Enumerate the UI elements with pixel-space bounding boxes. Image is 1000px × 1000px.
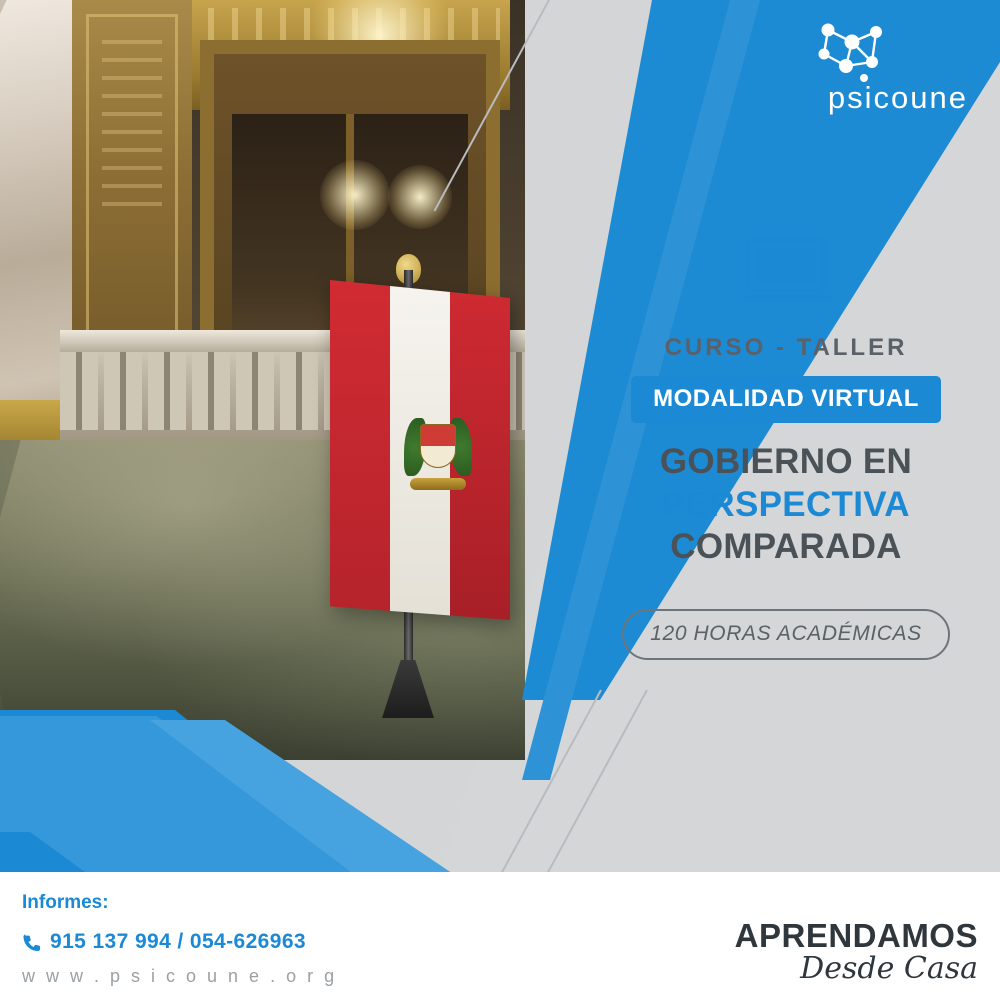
phone-icon bbox=[22, 933, 41, 952]
slogan-line-1: APRENDAMOS bbox=[735, 919, 978, 952]
academic-hours-pill: 120 HORAS ACADÉMICAS bbox=[622, 609, 949, 660]
title-line-1: GOBIERNO EN bbox=[660, 442, 912, 481]
coat-shield bbox=[420, 424, 456, 468]
modality-badge: MODALIDAD VIRTUAL bbox=[631, 376, 941, 423]
slogan-line-2: Desde Casa bbox=[735, 954, 978, 984]
molecule-network-icon bbox=[812, 18, 888, 82]
page-title: GOBIERNO EN PERSPECTIVA COMPARADA bbox=[596, 441, 976, 569]
laptop-icon bbox=[738, 238, 834, 308]
brand-logo-text: psicoune bbox=[828, 80, 968, 116]
peru-flag bbox=[330, 280, 510, 620]
course-info-block: CURSO - TALLER MODALIDAD VIRTUAL GOBIERN… bbox=[596, 238, 976, 660]
title-line-2: PERSPECTIVA bbox=[596, 484, 976, 527]
brand-logo[interactable]: psicoune bbox=[756, 18, 976, 114]
flag-band-red-left bbox=[330, 280, 390, 620]
title-line-3: COMPARADA bbox=[670, 527, 901, 566]
coat-ribbon bbox=[410, 478, 466, 490]
contact-phone-row[interactable]: 915 137 994 / 054-626963 bbox=[22, 930, 306, 954]
informes-label: Informes: bbox=[22, 892, 109, 914]
campaign-slogan: APRENDAMOS Desde Casa bbox=[735, 919, 978, 984]
course-kicker: CURSO - TALLER bbox=[596, 334, 976, 362]
website-url[interactable]: w w w . p s i c o u n e . o r g bbox=[22, 966, 337, 987]
chandelier-glow-left bbox=[320, 160, 390, 230]
poster-canvas: psicoune CURSO - TALLER MODALIDAD VIRTUA… bbox=[0, 0, 1000, 1000]
phone-numbers: 915 137 994 / 054-626963 bbox=[50, 930, 306, 954]
peru-coat-of-arms bbox=[406, 410, 470, 488]
